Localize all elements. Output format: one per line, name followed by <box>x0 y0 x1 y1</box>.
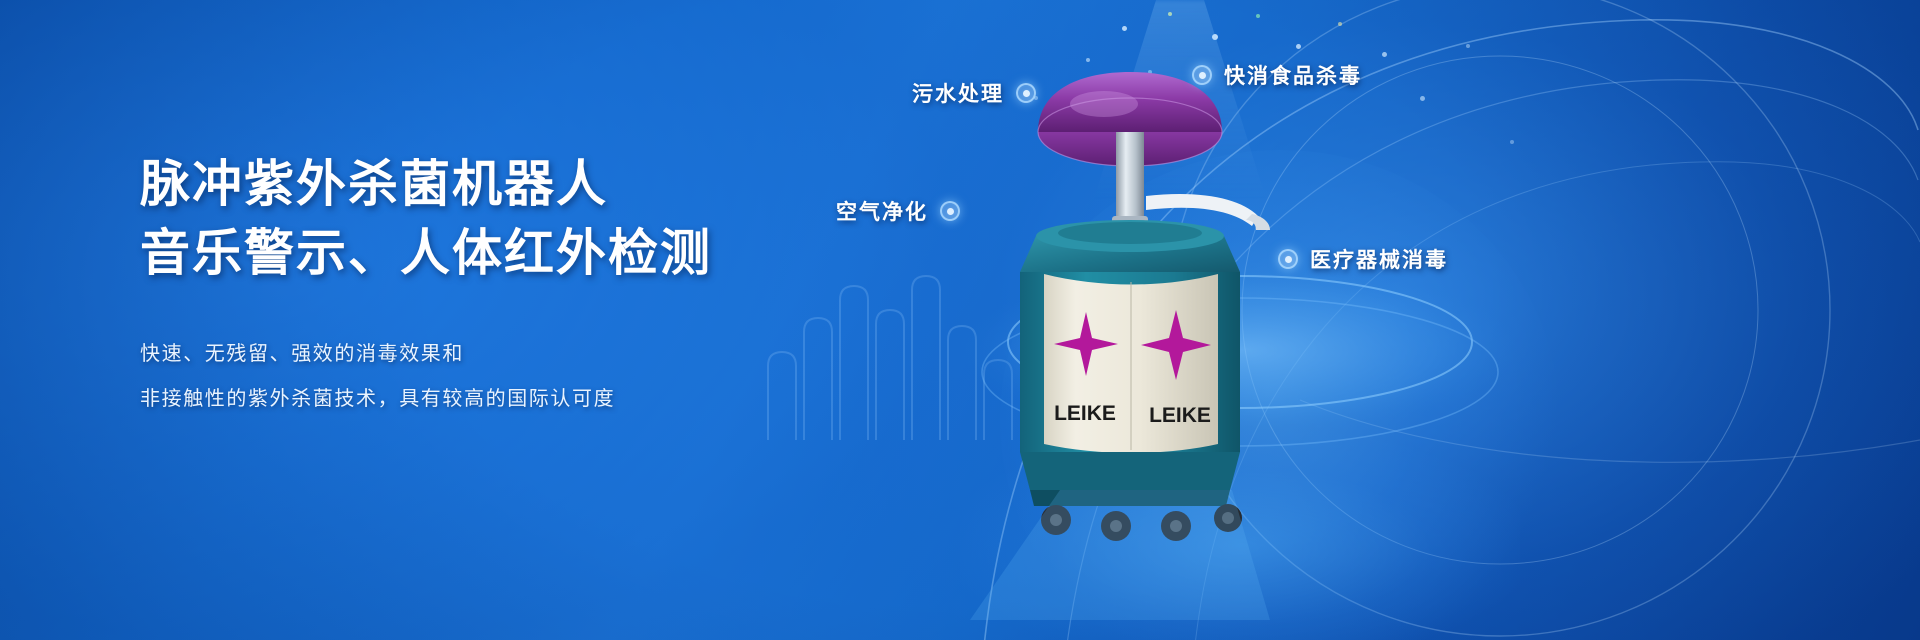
page-title: 脉冲紫外杀菌机器人 音乐警示、人体红外检测 <box>140 150 860 288</box>
connector-dot-icon <box>1278 249 1298 269</box>
brand-text-left: LEIKE <box>1054 402 1116 425</box>
feature-label-air: 空气净化 <box>836 196 960 226</box>
feature-label-wastewater: 污水处理 <box>912 78 1036 108</box>
feature-label-medical: 医疗器械消毒 <box>1278 244 1448 274</box>
feature-label-food: 快消食品杀毒 <box>1192 60 1362 90</box>
headline-line-2: 音乐警示、人体红外检测 <box>140 219 860 288</box>
uv-disinfection-robot-illustration: LEIKE LEIKE <box>940 20 1560 640</box>
connector-dot-icon <box>1016 83 1036 103</box>
connector-dot-icon <box>940 201 960 221</box>
promo-banner: LEIKE LEIKE 脉冲紫外杀菌机器人 音乐警示、人体红外检测 快速、无残留… <box>0 0 1920 640</box>
headline-line-1: 脉冲紫外杀菌机器人 <box>140 156 608 212</box>
feature-label-medical-text: 医疗器械消毒 <box>1310 244 1448 274</box>
feature-label-air-text: 空气净化 <box>836 196 928 226</box>
connector-dot-icon <box>1192 65 1212 85</box>
subcopy-line-1: 快速、无残留、强效的消毒效果和 <box>140 332 860 377</box>
headline-block: 脉冲紫外杀菌机器人 音乐警示、人体红外检测 快速、无残留、强效的消毒效果和 非接… <box>140 150 860 422</box>
feature-label-food-text: 快消食品杀毒 <box>1224 60 1362 90</box>
subcopy-line-2: 非接触性的紫外杀菌技术，具有较高的国际认可度 <box>140 377 860 422</box>
subcopy-block: 快速、无残留、强效的消毒效果和 非接触性的紫外杀菌技术，具有较高的国际认可度 <box>140 332 860 422</box>
brand-text-right: LEIKE <box>1149 404 1211 427</box>
feature-label-wastewater-text: 污水处理 <box>912 78 1004 108</box>
